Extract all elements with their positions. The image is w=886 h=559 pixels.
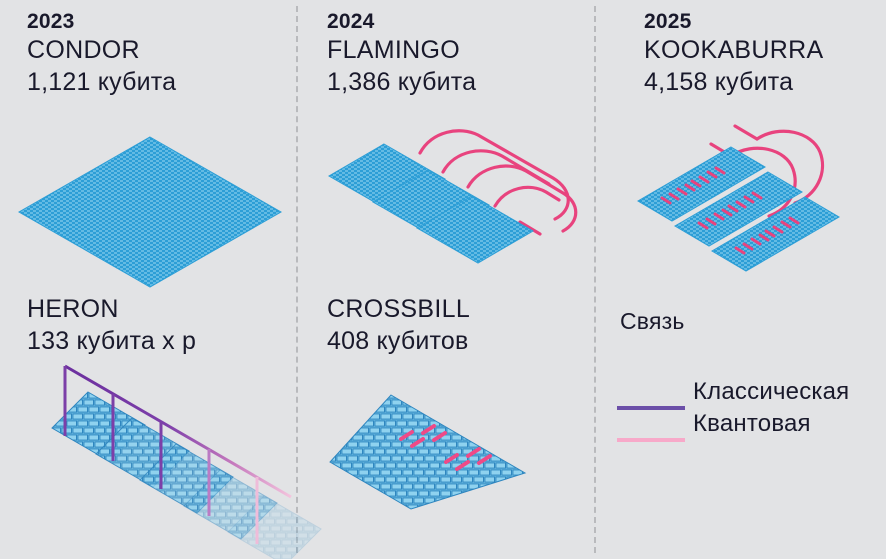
flamingo-chip-graphic xyxy=(329,131,576,263)
generation-name: CROSSBILL xyxy=(327,293,470,325)
crossbill-chip-graphic xyxy=(330,395,525,509)
generation-name: KOOKABURRA xyxy=(644,35,823,66)
legend-swatch-classical xyxy=(617,406,685,410)
legend-label-quantum: Квантовая xyxy=(693,412,811,436)
kookaburra-chip-1 xyxy=(638,147,765,221)
qubit-count: 408 кубитов xyxy=(327,325,470,358)
heron-chip-5 xyxy=(228,496,321,559)
legend-title: Связь xyxy=(620,308,685,335)
qubit-count: 1,121 кубита xyxy=(27,66,176,99)
heron-chip-1 xyxy=(52,392,145,461)
kookaburra-chip-3 xyxy=(712,197,839,271)
heron-chip-3 xyxy=(140,444,233,513)
qubit-count: 133 кубита х р xyxy=(27,325,196,358)
crossbill-quantum-links xyxy=(401,426,490,469)
row2-header-crossbill: CROSSBILL 408 кубитов xyxy=(327,293,470,358)
qubit-count: 1,386 кубита xyxy=(327,66,476,99)
column-header-condor: 2023 CONDOR 1,121 кубита xyxy=(27,8,176,99)
column-divider-1 xyxy=(296,6,298,553)
generation-name: CONDOR xyxy=(27,35,176,66)
generation-name: FLAMINGO xyxy=(327,35,476,66)
condor-chip-graphic xyxy=(19,137,281,287)
legend-label-classical: Классическая xyxy=(693,380,849,404)
heron-chip-2 xyxy=(96,418,189,487)
legend-swatch-quantum xyxy=(617,438,685,442)
column-header-kookaburra: 2025 KOOKABURRA 4,158 кубита xyxy=(644,8,823,99)
kookaburra-chip-graphic xyxy=(610,120,886,295)
qubit-count: 4,158 кубита xyxy=(644,66,823,99)
heron-chip-graphic xyxy=(52,366,321,559)
year-label: 2023 xyxy=(27,8,176,35)
year-label: 2024 xyxy=(327,8,476,35)
infographic-root: 2023 CONDOR 1,121 кубита 2024 FLAMINGO 1… xyxy=(0,0,886,559)
row2-header-heron: HERON 133 кубита х р xyxy=(27,293,196,358)
column-header-flamingo: 2024 FLAMINGO 1,386 кубита xyxy=(327,8,476,99)
column-divider-2 xyxy=(594,6,596,553)
year-label: 2025 xyxy=(644,8,823,35)
heron-chip-4 xyxy=(184,470,277,539)
generation-name: HERON xyxy=(27,293,196,325)
kookaburra-chip-2 xyxy=(675,172,802,246)
legend-title-block: Связь xyxy=(620,308,685,335)
